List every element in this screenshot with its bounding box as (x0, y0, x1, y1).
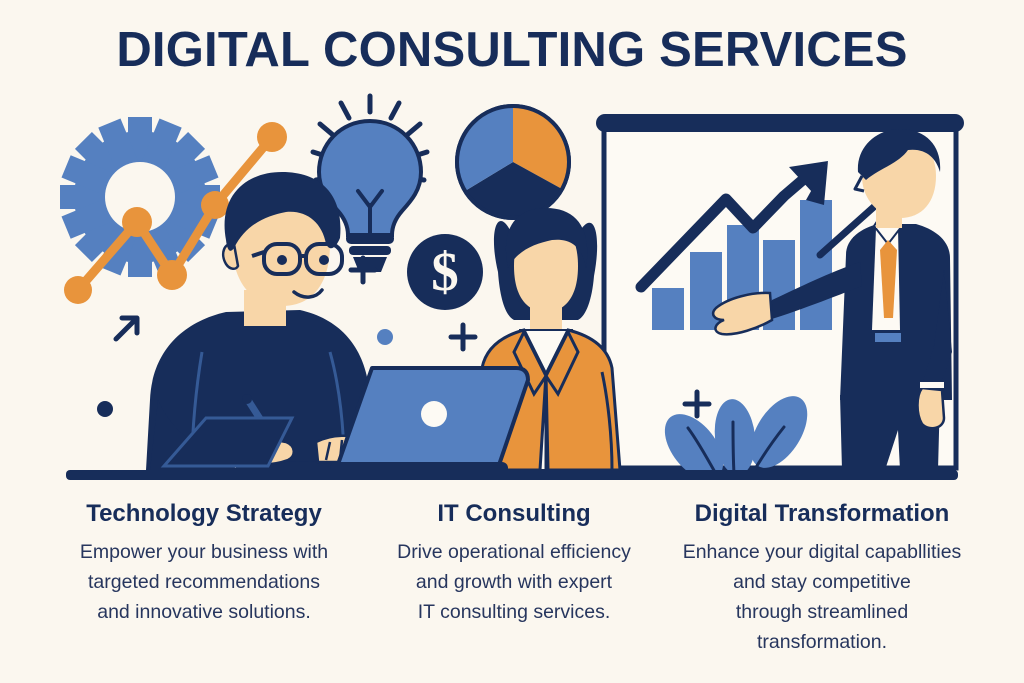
service-description: Drive operational efficiency and growth … (378, 537, 650, 627)
dollar-coin-icon: $ (407, 234, 483, 310)
service-description-line: through streamlined (654, 597, 990, 627)
page-title: DIGITAL CONSULTING SERVICES (0, 22, 1024, 78)
service-title: Technology Strategy (36, 500, 372, 528)
dot-icon (377, 329, 393, 345)
svg-text:$: $ (431, 241, 459, 302)
pie-chart-icon (457, 106, 569, 218)
service-description-line: Drive operational efficiency (378, 537, 650, 567)
gear-icon (60, 117, 220, 277)
service-description: Enhance your digital capabllities and st… (654, 537, 990, 657)
service-description-line: and growth with expert (378, 567, 650, 597)
service-description-line: Enhance your digital capabllities (654, 537, 990, 567)
service-description-line: targeted recommendations (36, 567, 372, 597)
service-description-line: Empower your business with (36, 537, 372, 567)
service-description-line: IT consulting services. (378, 597, 650, 627)
service-title: IT Consulting (378, 500, 650, 528)
service-column-it-consulting: IT Consulting Drive operational efficien… (378, 500, 650, 627)
service-description-line: and stay competitive (654, 567, 990, 597)
service-description: Empower your business with targeted reco… (36, 537, 372, 627)
dot-icon (97, 401, 113, 417)
service-description-line: transformation. (654, 627, 990, 657)
infographic-poster: $ (0, 0, 1024, 683)
service-column-digital-transformation: Digital Transformation Enhance your digi… (654, 500, 990, 657)
service-description-line: and innovative solutions. (36, 597, 372, 627)
section-divider (66, 470, 958, 480)
service-title: Digital Transformation (654, 500, 990, 528)
service-column-technology-strategy: Technology Strategy Empower your busines… (36, 500, 372, 627)
